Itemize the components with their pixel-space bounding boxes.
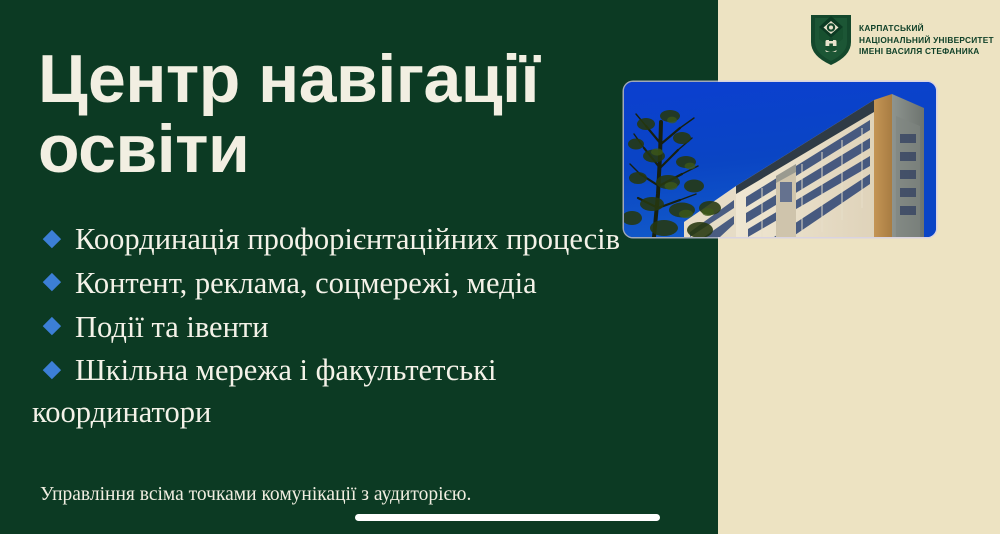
diamond-bullet-icon bbox=[43, 317, 61, 335]
diamond-bullet-icon bbox=[43, 229, 61, 247]
slide-title: Центр навігації освіти bbox=[38, 44, 638, 184]
caption-underline-bar bbox=[355, 514, 660, 521]
diamond-bullet-icon bbox=[43, 273, 61, 291]
list-item: Контент, реклама, соцмережі, медіа bbox=[32, 262, 677, 304]
list-item-label: Координація профорієнтаційних процесів bbox=[75, 222, 620, 256]
slide-caption: Управління всіма точками комунікації з а… bbox=[40, 483, 660, 506]
university-building-photo bbox=[624, 82, 936, 237]
list-item-label: Контент, реклама, соцмережі, медіа bbox=[75, 266, 537, 300]
list-item-label: Події та івенти bbox=[75, 310, 269, 344]
university-logo: КАРПАТСЬКИЙ НАЦІОНАЛЬНИЙ УНІВЕРСИТЕТ ІМЕ… bbox=[810, 12, 994, 67]
logo-line-3: ІМЕНІ ВАСИЛЯ СТЕФАНИКА bbox=[859, 46, 994, 57]
list-item: Координація профорієнтаційних процесів bbox=[32, 218, 677, 260]
university-crest-icon bbox=[810, 12, 852, 67]
list-item: Шкільна мережа і факультетські координат… bbox=[32, 349, 677, 433]
logo-line-1: КАРПАТСЬКИЙ bbox=[859, 23, 994, 34]
building-photo-illustration bbox=[624, 82, 936, 237]
bullet-list: Координація профорієнтаційних процесів К… bbox=[32, 218, 677, 435]
university-logo-text: КАРПАТСЬКИЙ НАЦІОНАЛЬНИЙ УНІВЕРСИТЕТ ІМЕ… bbox=[859, 22, 994, 58]
diamond-bullet-icon bbox=[43, 361, 61, 379]
logo-line-2: НАЦІОНАЛЬНИЙ УНІВЕРСИТЕТ bbox=[859, 35, 994, 46]
list-item-label: Шкільна мережа і факультетські координат… bbox=[32, 354, 497, 430]
presentation-slide: КАРПАТСЬКИЙ НАЦІОНАЛЬНИЙ УНІВЕРСИТЕТ ІМЕ… bbox=[0, 0, 1000, 534]
background-panel-cream bbox=[718, 0, 1000, 534]
list-item: Події та івенти bbox=[32, 306, 677, 348]
